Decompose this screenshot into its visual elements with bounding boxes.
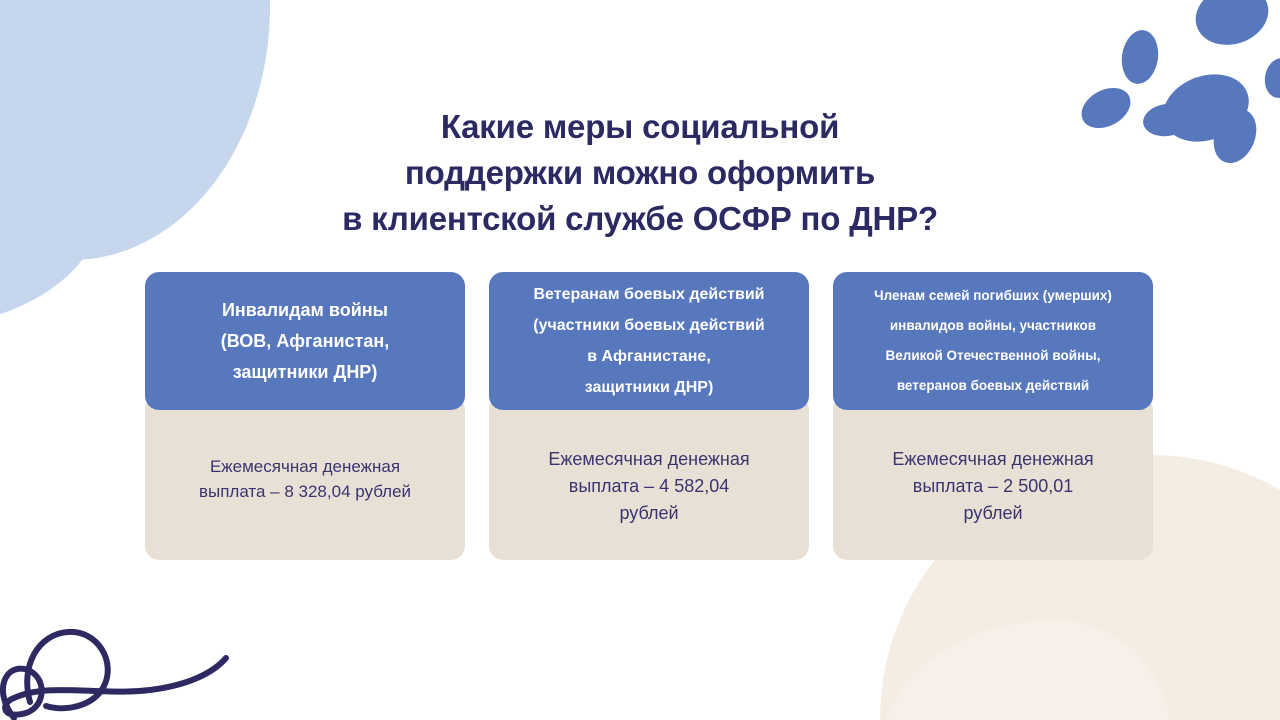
bottom-center-beige-blob-shape: [880, 620, 1170, 720]
slide-canvas: Какие меры социальной поддержки можно оф…: [0, 0, 1280, 720]
benefit-card-family-members: Членам семей погибших (умерших) инвалидо…: [833, 272, 1153, 560]
benefit-card-body-text: Ежемесячная денежная выплата – 4 582,04 …: [511, 446, 787, 550]
page-title: Какие меры социальной поддержки можно оф…: [190, 104, 1090, 242]
benefit-card-body-text: Ежемесячная денежная выплата – 8 328,04 …: [163, 454, 447, 550]
benefit-card-body-text: Ежемесячная денежная выплата – 2 500,01 …: [855, 446, 1131, 550]
page-title-line-3: в клиентской службе ОСФР по ДНР?: [190, 196, 1090, 242]
benefit-card-header-combat-veterans: Ветеранам боевых действий (участники бое…: [489, 272, 809, 410]
benefit-card-header-text: Инвалидам войны (ВОВ, Афганистан, защитн…: [167, 295, 443, 388]
blue-ellipse-7-shape: [1262, 56, 1280, 101]
benefit-card-body-family-members: Ежемесячная денежная выплата – 2 500,01 …: [833, 396, 1153, 560]
benefit-card-header-war-invalids: Инвалидам войны (ВОВ, Афганистан, защитн…: [145, 272, 465, 410]
benefit-card-header-family-members: Членам семей погибших (умерших) инвалидо…: [833, 272, 1153, 410]
page-title-line-1: Какие меры социальной: [190, 104, 1090, 150]
swirl-line-icon: [0, 570, 260, 720]
blue-ellipse-5-shape: [1141, 101, 1193, 139]
blue-ellipse-3-shape: [1118, 28, 1161, 86]
top-left-blob-secondary-shape: [0, 30, 100, 330]
blue-ellipse-6-shape: [1206, 103, 1264, 170]
blue-ellipse-1-shape: [1188, 0, 1276, 54]
benefit-card-header-text: Ветеранам боевых действий (участники бое…: [503, 279, 795, 403]
benefit-card-list: Инвалидам войны (ВОВ, Афганистан, защитн…: [145, 272, 1160, 560]
benefit-card-body-combat-veterans: Ежемесячная денежная выплата – 4 582,04 …: [489, 396, 809, 560]
benefit-card-combat-veterans: Ветеранам боевых действий (участники бое…: [489, 272, 809, 560]
benefit-card-body-war-invalids: Ежемесячная денежная выплата – 8 328,04 …: [145, 396, 465, 560]
blue-ellipse-2-shape: [1154, 63, 1259, 153]
page-title-line-2: поддержки можно оформить: [190, 150, 1090, 196]
benefit-card-war-invalids: Инвалидам войны (ВОВ, Афганистан, защитн…: [145, 272, 465, 560]
benefit-card-header-text: Членам семей погибших (умерших) инвалидо…: [843, 281, 1143, 401]
